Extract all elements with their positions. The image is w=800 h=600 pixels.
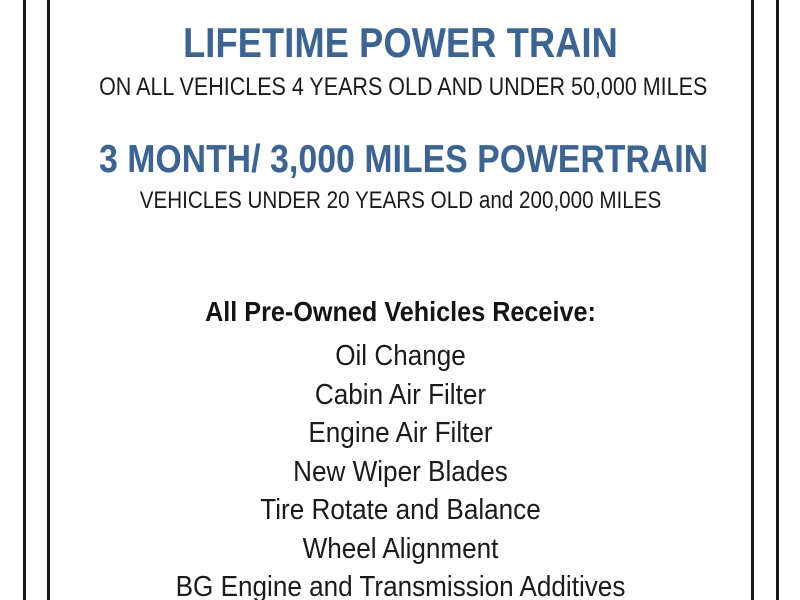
list-item: Wheel Alignment bbox=[85, 530, 716, 569]
warranty-offer-three-month: 3 MONTH/ 3,000 MILES POWERTRAIN VEHICLES… bbox=[50, 102, 751, 215]
services-title: All Pre-Owned Vehicles Receive: bbox=[85, 298, 716, 326]
warranty-offer-lifetime: LIFETIME POWER TRAIN ON ALL VEHICLES 4 Y… bbox=[50, 0, 751, 102]
border-rule-left-outer bbox=[23, 0, 26, 600]
border-rule-right-outer bbox=[776, 0, 779, 600]
list-item: Engine Air Filter bbox=[85, 414, 716, 453]
warranty-headline-lifetime: LIFETIME POWER TRAIN bbox=[99, 22, 702, 64]
warranty-headline-three-month: 3 MONTH/ 3,000 MILES POWERTRAIN bbox=[99, 140, 702, 179]
warranty-flyer: LIFETIME POWER TRAIN ON ALL VEHICLES 4 Y… bbox=[0, 0, 800, 600]
list-item: New Wiper Blades bbox=[85, 453, 716, 492]
list-item: BG Engine and Transmission Additives bbox=[85, 568, 716, 600]
warranty-subline-three-month: VEHICLES UNDER 20 YEARS OLD and 200,000 … bbox=[99, 187, 702, 215]
warranty-subline-lifetime: ON ALL VEHICLES 4 YEARS OLD AND UNDER 50… bbox=[99, 73, 702, 102]
flyer-content: LIFETIME POWER TRAIN ON ALL VEHICLES 4 Y… bbox=[50, 0, 751, 600]
list-item: Tire Rotate and Balance bbox=[85, 491, 716, 530]
list-item: Oil Change bbox=[85, 337, 716, 376]
list-item: Cabin Air Filter bbox=[85, 376, 716, 415]
services-list: Oil Change Cabin Air Filter Engine Air F… bbox=[50, 337, 751, 600]
services-section: All Pre-Owned Vehicles Receive: Oil Chan… bbox=[50, 214, 751, 600]
border-rule-right-inner bbox=[751, 0, 754, 600]
